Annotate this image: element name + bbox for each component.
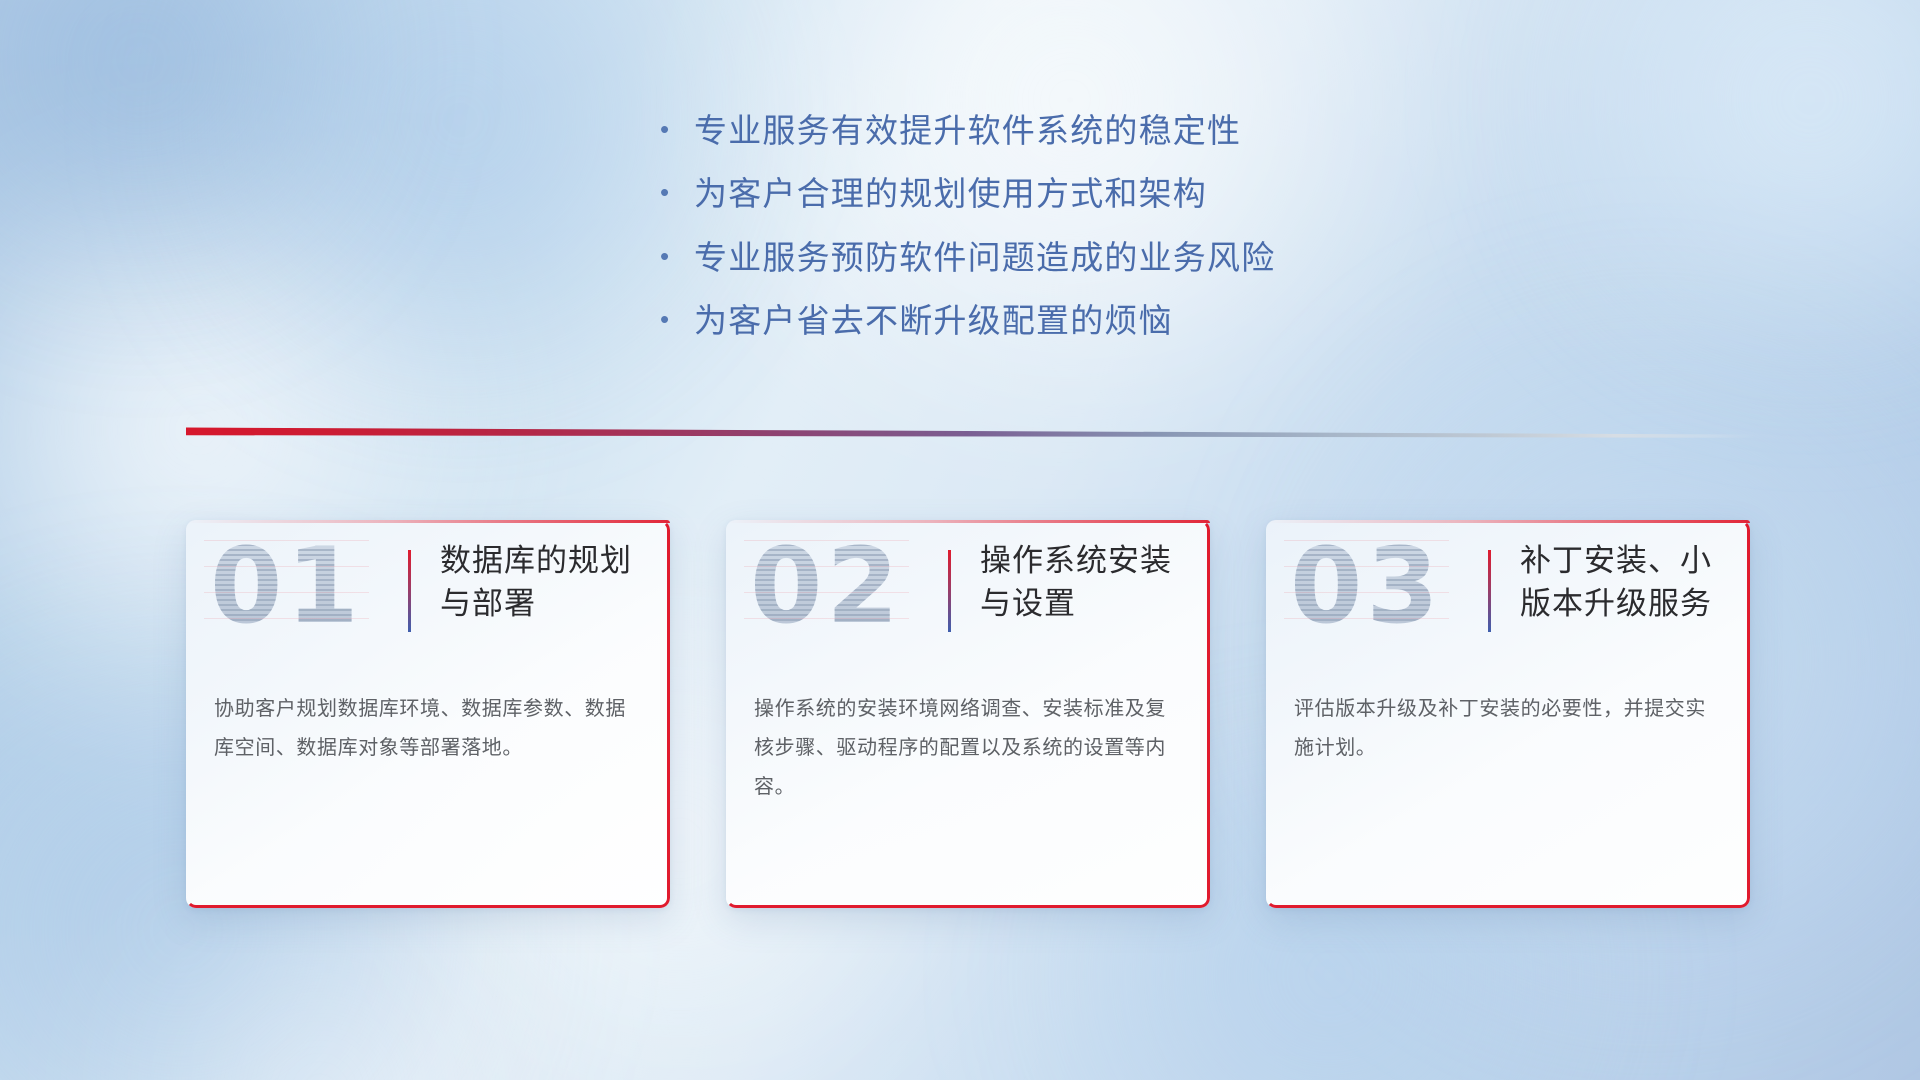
card-title: 数据库的规划与部署 [440,540,644,626]
service-card-list: 01 数据库的规划与部署 协助客户规划数据库环境、数据库参数、数据库空间、数据库… [186,520,1750,908]
divider-blade [186,424,1756,440]
service-card[interactable]: 02 操作系统安装与设置 操作系统的安装环境网络调查、安装标准及复核步骤、驱动程… [726,520,1210,908]
list-item: • 为客户合理的规划使用方式和架构 [660,173,1275,214]
bullet-dot-icon: • [660,116,694,142]
bullet-dot-icon: • [660,306,694,332]
card-title: 操作系统安装与设置 [980,540,1184,626]
card-body-text: 协助客户规划数据库环境、数据库参数、数据库空间、数据库对象等部署落地。 [214,690,642,768]
card-title-divider [948,550,951,632]
card-header: 02 操作系统安装与设置 [726,520,1210,662]
bullet-dot-icon: • [660,243,694,269]
card-title-divider [408,550,411,632]
card-title: 补丁安装、小版本升级服务 [1520,540,1724,626]
section-divider [186,424,1756,440]
card-number: 01 [210,534,363,638]
card-header: 01 数据库的规划与部署 [186,520,670,662]
bullet-text: 专业服务有效提升软件系统的稳定性 [694,110,1241,151]
card-header: 03 补丁安装、小版本升级服务 [1266,520,1750,662]
benefits-bullet-list: • 专业服务有效提升软件系统的稳定性 • 为客户合理的规划使用方式和架构 • 专… [660,110,1275,341]
service-card[interactable]: 01 数据库的规划与部署 协助客户规划数据库环境、数据库参数、数据库空间、数据库… [186,520,670,908]
bullet-text: 为客户合理的规划使用方式和架构 [694,173,1207,214]
card-number: 02 [750,534,903,638]
bullet-text: 专业服务预防软件问题造成的业务风险 [694,237,1275,278]
card-body-text: 操作系统的安装环境网络调查、安装标准及复核步骤、驱动程序的配置以及系统的设置等内… [754,690,1182,807]
list-item: • 为客户省去不断升级配置的烦恼 [660,300,1275,341]
bullet-dot-icon: • [660,179,694,205]
service-card[interactable]: 03 补丁安装、小版本升级服务 评估版本升级及补丁安装的必要性，并提交实施计划。 [1266,520,1750,908]
card-number: 03 [1290,534,1443,638]
card-title-divider [1488,550,1491,632]
list-item: • 专业服务有效提升软件系统的稳定性 [660,110,1275,151]
card-body-text: 评估版本升级及补丁安装的必要性，并提交实施计划。 [1294,690,1722,768]
list-item: • 专业服务预防软件问题造成的业务风险 [660,237,1275,278]
bullet-text: 为客户省去不断升级配置的烦恼 [694,300,1173,341]
